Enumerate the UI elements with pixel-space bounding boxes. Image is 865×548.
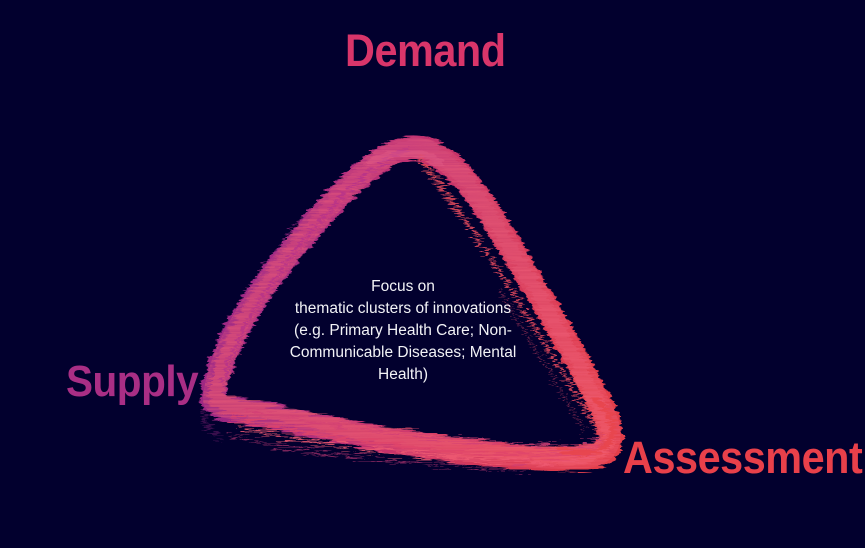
slide-canvas: Demand Supply Assessment Focus on themat… [0,0,865,548]
corner-label-assessment: Assessment [623,435,862,480]
center-text-line-3: (e.g. Primary Health Care; Non- [268,320,538,342]
center-text-block: Focus on thematic clusters of innovation… [268,276,538,386]
center-text-line-5: Health) [268,364,538,386]
corner-label-supply: Supply [66,360,198,404]
center-text-line-1: Focus on [268,276,538,298]
center-text-line-4: Communicable Diseases; Mental [268,342,538,364]
center-text-line-2: thematic clusters of innovations [268,298,538,320]
corner-label-demand: Demand [345,28,506,73]
